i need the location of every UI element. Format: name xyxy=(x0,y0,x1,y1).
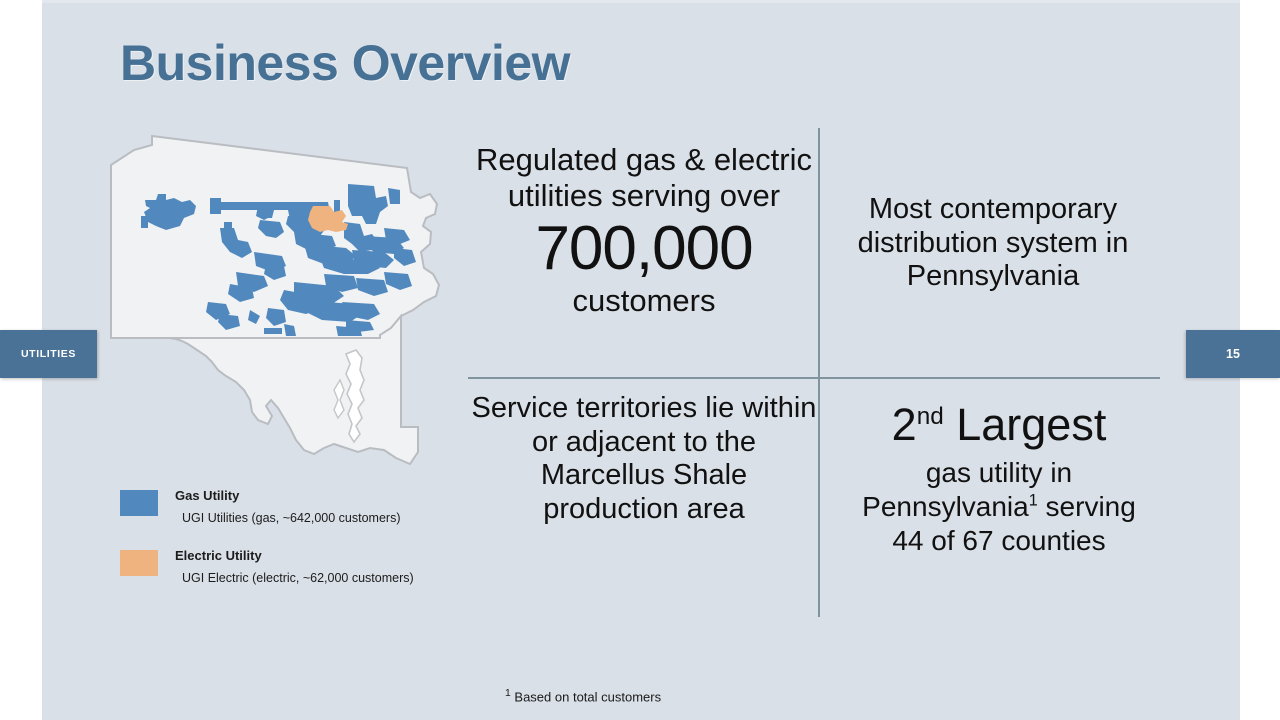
section-tab-utilities[interactable]: UTILITIES xyxy=(0,330,97,378)
stat-rank-body-line2-a: Pennsylvania xyxy=(862,491,1029,522)
legend-swatch-gas-icon xyxy=(120,490,158,516)
footnote-text: Based on total customers xyxy=(514,689,661,704)
footnote: 1 Based on total customers xyxy=(505,688,661,704)
stat-marcellus-text: Service territories lie within or adjace… xyxy=(472,392,817,525)
stat-rank-body-line3: 44 of 67 counties xyxy=(892,525,1105,556)
page-title: Business Overview xyxy=(120,34,570,92)
legend-title-electric: Electric Utility xyxy=(175,548,460,565)
stat-rank-footnote-marker: 1 xyxy=(1029,492,1038,510)
stat-rank-word: Largest xyxy=(956,399,1106,450)
stat-rank-headline: 2nd Largest xyxy=(830,400,1168,450)
map-svg xyxy=(108,132,458,482)
quadrant-divider-horizontal xyxy=(468,377,1160,379)
page-number-tab[interactable]: 15 xyxy=(1186,330,1280,378)
section-tab-label: UTILITIES xyxy=(21,348,76,360)
footnote-marker: 1 xyxy=(505,688,511,699)
stat-rank-suffix: nd xyxy=(917,403,944,430)
legend-subtitle-gas: UGI Utilities (gas, ~642,000 customers) xyxy=(182,510,460,526)
stat-rank-body-line1: gas utility in xyxy=(926,457,1072,488)
map-legend: Gas Utility UGI Utilities (gas, ~642,000… xyxy=(120,488,460,608)
stat-block-customers: Regulated gas & electric utilities servi… xyxy=(470,142,818,319)
maryland-delaware-outline xyxy=(170,316,418,464)
page-number-label: 15 xyxy=(1226,347,1240,361)
stat-block-marcellus-shale: Service territories lie within or adjace… xyxy=(470,392,818,527)
stat-block-rank: 2nd Largest gas utility inPennsylvania1 … xyxy=(830,400,1168,557)
legend-subtitle-electric: UGI Electric (electric, ~62,000 customer… xyxy=(182,570,460,586)
quadrant-divider-vertical xyxy=(818,128,820,617)
stat-rank-body-line2-b: serving xyxy=(1038,491,1136,522)
legend-title-gas: Gas Utility xyxy=(175,488,460,505)
stat-customers-trail: customers xyxy=(573,283,716,318)
stat-block-distribution-system: Most contemporary distribution system in… xyxy=(828,193,1158,294)
stat-rank-body: gas utility inPennsylvania1 serving44 of… xyxy=(830,456,1168,557)
stat-customers-lead: Regulated gas & electric utilities servi… xyxy=(476,142,812,213)
legend-swatch-electric-icon xyxy=(120,550,158,576)
stat-distribution-text: Most contemporary distribution system in… xyxy=(858,193,1129,292)
stat-customers-number: 700,000 xyxy=(470,216,818,283)
legend-item-electric: Electric Utility UGI Electric (electric,… xyxy=(120,548,460,586)
stat-rank-number: 2 xyxy=(892,399,917,450)
legend-item-gas: Gas Utility UGI Utilities (gas, ~642,000… xyxy=(120,488,460,526)
slide-top-accent-line xyxy=(42,0,1240,3)
service-territory-map xyxy=(108,132,458,482)
slide: Business Overview UTILITIES 15 xyxy=(0,0,1280,720)
